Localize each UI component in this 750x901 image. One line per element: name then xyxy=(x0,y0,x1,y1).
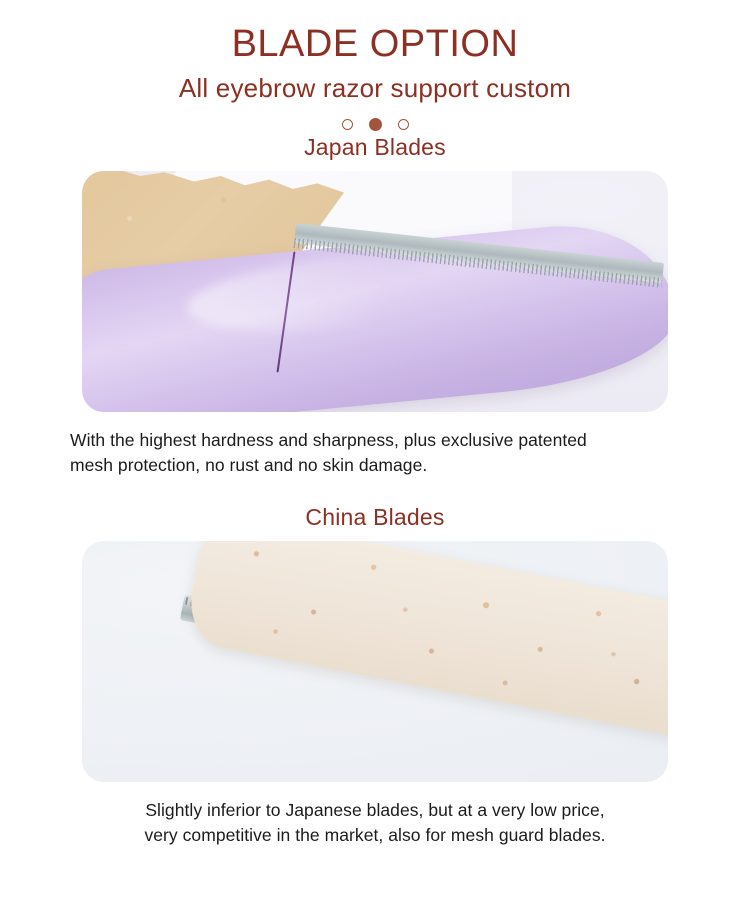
section-japan-blades: Japan Blades With the highest hardness a… xyxy=(0,132,750,478)
caption-japan-line-2: mesh protection, no rust and no skin dam… xyxy=(70,453,680,478)
pagination-dot-1[interactable] xyxy=(342,119,353,130)
product-photo-japan-blades xyxy=(82,171,668,412)
pagination-dot-3[interactable] xyxy=(398,119,409,130)
caption-china-line-2: very competitive in the market, also for… xyxy=(70,823,680,848)
page-header: BLADE OPTION All eyebrow razor support c… xyxy=(0,0,750,132)
page-title: BLADE OPTION xyxy=(0,22,750,66)
pagination-dot-2-active[interactable] xyxy=(369,118,382,131)
caption-china-line-1: Slightly inferior to Japanese blades, bu… xyxy=(70,798,680,823)
caption-china-blades: Slightly inferior to Japanese blades, bu… xyxy=(70,798,680,848)
section-china-blades: China Blades Slightly inferior to Japane… xyxy=(0,502,750,848)
page-subtitle: All eyebrow razor support custom xyxy=(0,72,750,104)
blade-option-page: BLADE OPTION All eyebrow razor support c… xyxy=(0,0,750,901)
caption-japan-blades: With the highest hardness and sharpness,… xyxy=(70,428,680,478)
section-title-japan-blades: Japan Blades xyxy=(0,132,750,162)
caption-japan-line-1: With the highest hardness and sharpness,… xyxy=(70,428,680,453)
section-title-china-blades: China Blades xyxy=(0,502,750,532)
product-photo-china-blades xyxy=(82,541,668,782)
pagination-dots xyxy=(0,116,750,132)
photo-straw-handle xyxy=(183,541,668,747)
